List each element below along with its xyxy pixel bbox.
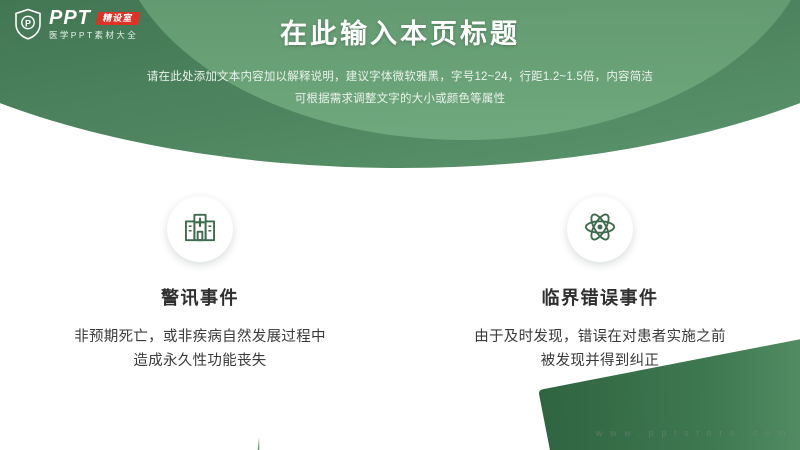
column-heading: 警讯事件 (161, 284, 239, 310)
shield-icon: P (14, 8, 42, 40)
subtitle-line-2: 可根据需求调整文字的大小或颜色等属性 (0, 89, 800, 111)
svg-text:P: P (25, 18, 31, 28)
brand-logo: P PPT 精设室 医学PPT素材大全 (14, 8, 139, 40)
column-body-text: 非预期死亡，或非疾病自然发展过程中造成永久性功能丧失 (73, 325, 328, 373)
column-sentinel-event: 警讯事件 非预期死亡，或非疾病自然发展过程中造成永久性功能丧失 (0, 196, 400, 373)
page-subtitle: 请在此处添加文本内容加以解释说明，建议字体微软雅黑，字号12~24，行距1.2~… (0, 67, 800, 111)
content-columns: 警讯事件 非预期死亡，或非疾病自然发展过程中造成永久性功能丧失 临界错误事件 (0, 196, 800, 373)
column-near-miss-event: 临界错误事件 由于及时发现，错误在对患者实施之前被发现并得到纠正 (400, 196, 800, 373)
subtitle-line-1: 请在此处添加文本内容加以解释说明，建议字体微软雅黑，字号12~24，行距1.2~… (0, 67, 800, 89)
atom-icon (584, 211, 616, 248)
watermark: w w w . p p t s t o r e . c o m (596, 428, 788, 438)
hospital-icon (184, 212, 216, 247)
column-heading: 临界错误事件 (542, 284, 659, 310)
slide-canvas: P PPT 精设室 医学PPT素材大全 在此输入本页标题 请在此处添加文本内容加… (0, 0, 800, 450)
column-body-text: 由于及时发现，错误在对患者实施之前被发现并得到纠正 (473, 325, 728, 373)
logo-badge: 精设室 (96, 12, 140, 25)
logo-tagline: 医学PPT素材大全 (49, 31, 139, 40)
icon-badge-atom[interactable] (567, 196, 633, 262)
logo-brand-text: PPT (49, 8, 91, 28)
icon-badge-hospital[interactable] (167, 196, 233, 262)
